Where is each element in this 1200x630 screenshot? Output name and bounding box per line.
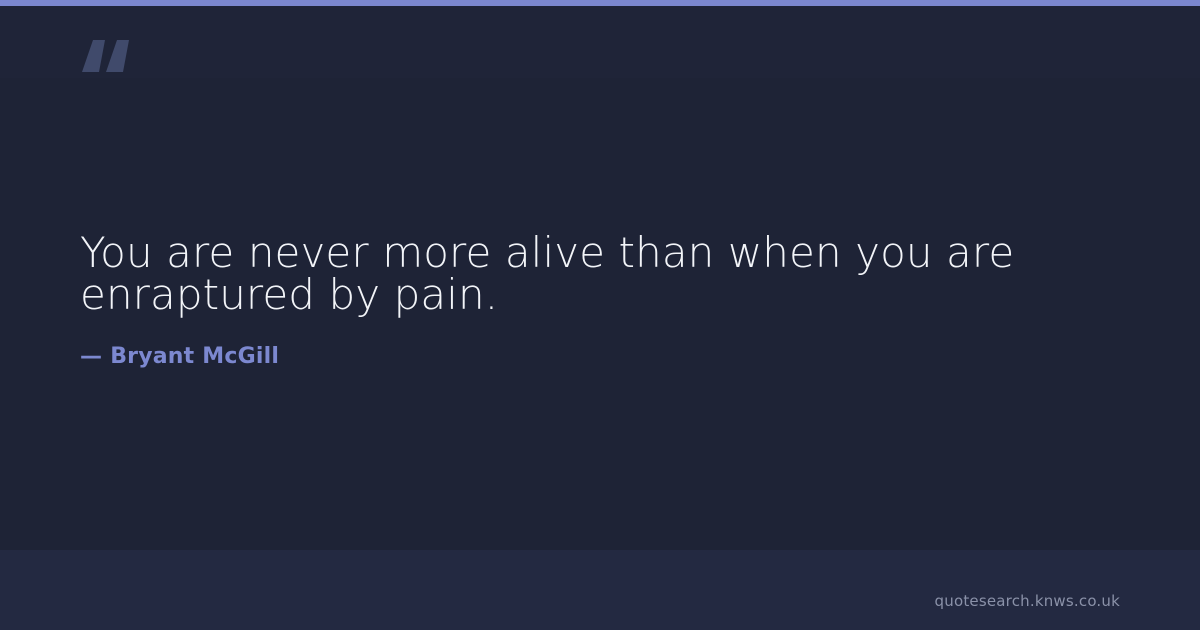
attribution-author: Bryant McGill [110,344,279,369]
site-watermark: quotesearch.knws.co.uk [935,592,1120,610]
quote-card: You are never more alive than when you a… [0,0,1200,630]
quote-mark-icon [80,34,140,86]
top-accent-bar [0,0,1200,6]
quote-body: You are never more alive than when you a… [80,232,1060,316]
quote-text: You are never more alive than when you a… [80,232,1060,316]
quote-attribution: —Bryant McGill [80,344,279,369]
attribution-dash: — [80,344,102,369]
background-band-top [0,6,1200,78]
background-band-bottom [0,550,1200,630]
